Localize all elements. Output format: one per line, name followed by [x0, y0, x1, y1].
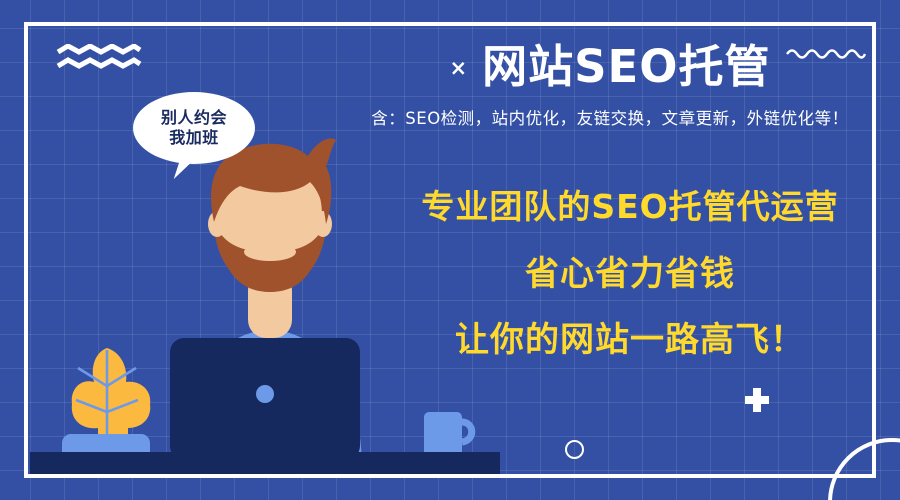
slogan-block: 专业团队的SEO托管代运营 省心省力省钱 让你的网站一路高飞！	[370, 190, 890, 357]
plus-icon	[745, 388, 769, 412]
wave-lines-icon	[56, 44, 142, 74]
speech-bubble-line1: 别人约会	[161, 108, 227, 128]
illustration-group	[0, 0, 900, 500]
close-icon: ×	[449, 58, 468, 79]
coffee-mug-icon	[424, 412, 472, 456]
bearded-man-icon	[178, 139, 362, 470]
page-title-text: 网站SEO托管	[482, 42, 770, 92]
title-block: × 网站SEO托管 含：SEO检测，站内优化，友链交换，文章更新，外链优化等！	[330, 42, 890, 129]
potted-plant-icon	[62, 348, 150, 464]
slogan-line-2: 省心省力省钱	[370, 257, 890, 291]
desk-icon	[30, 452, 500, 474]
page-title: × 网站SEO托管	[330, 42, 890, 92]
corner-circle-icon	[828, 438, 900, 500]
speech-bubble-line2: 我加班	[169, 128, 219, 148]
slogan-line-3: 让你的网站一路高飞！	[370, 323, 890, 357]
circle-outline-icon	[565, 440, 584, 459]
speech-bubble: 别人约会 我加班	[133, 92, 255, 164]
page-subtitle: 含：SEO检测，站内优化，友链交换，文章更新，外链优化等！	[330, 105, 890, 129]
wave-line-icon	[785, 46, 867, 60]
banner-frame	[24, 22, 876, 478]
slogan-line-1: 专业团队的SEO托管代运营	[370, 190, 890, 223]
seo-promo-banner: 别人约会 我加班 × 网站SEO托管 含：SEO检测，站内优化，友链交换，文章更…	[0, 0, 900, 500]
grid-background	[0, 0, 900, 500]
laptop-icon	[170, 338, 360, 460]
